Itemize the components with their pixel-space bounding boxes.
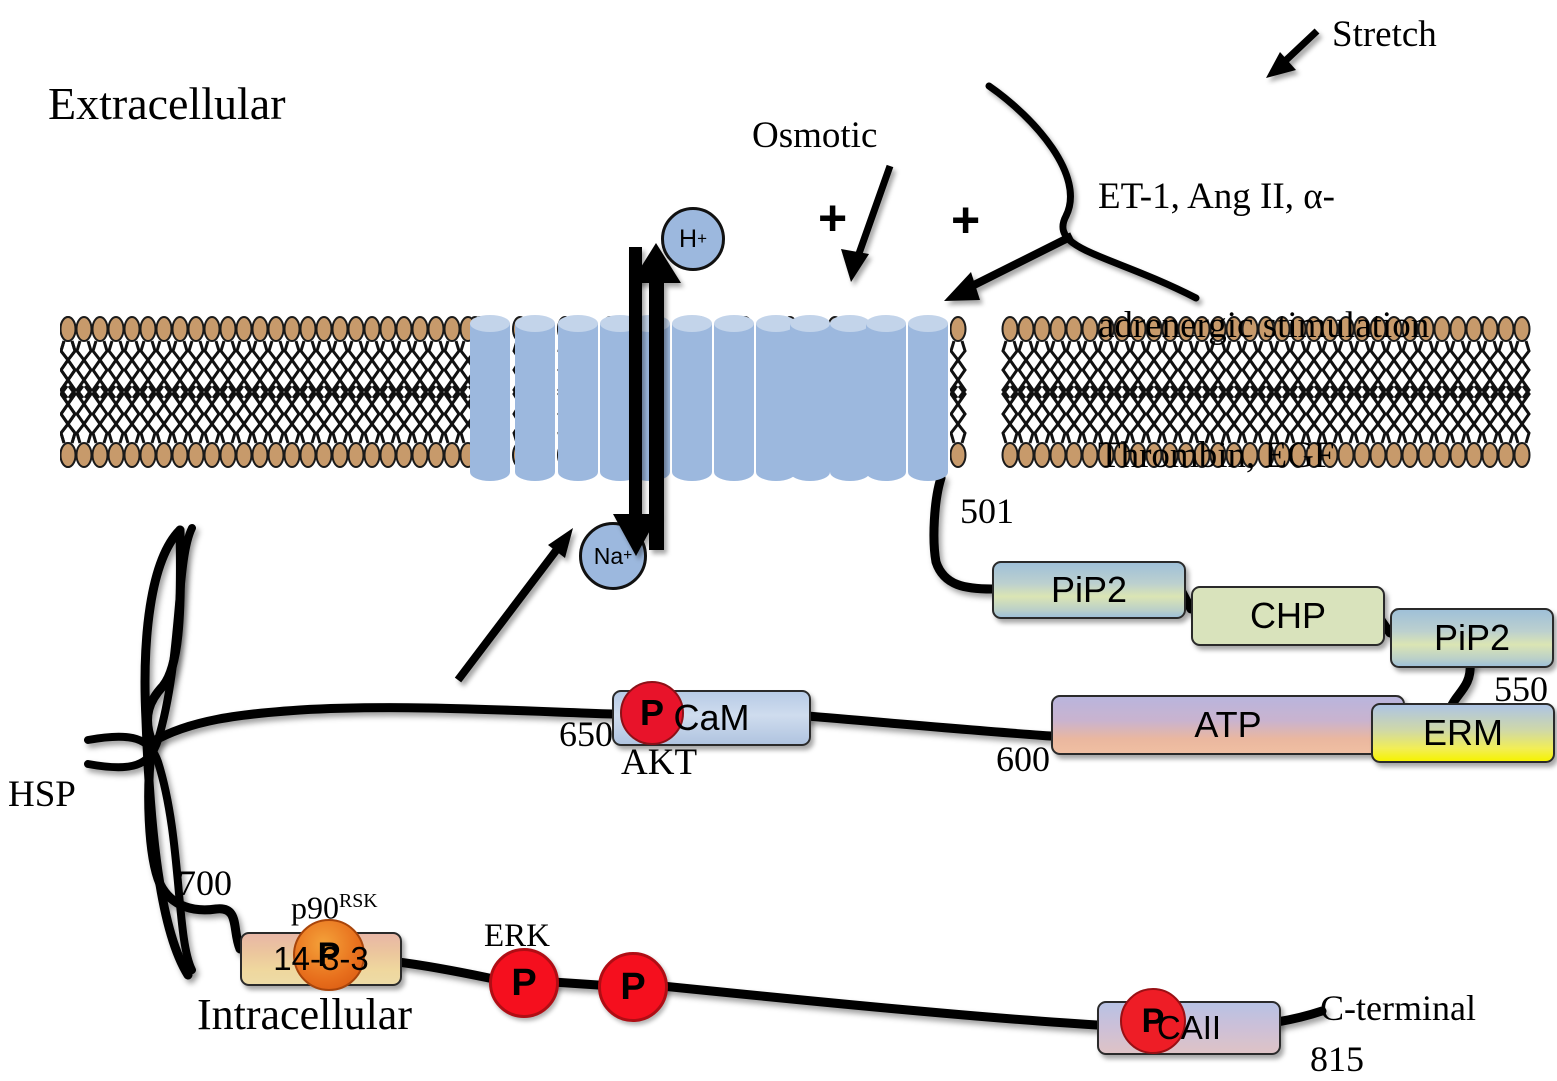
domain-erm-label: ERM [1423,712,1503,754]
domain-14-3-3[interactable]: 14-3-3 [240,932,402,986]
domain-atp[interactable]: ATP [1051,695,1405,755]
activation-arrow [458,528,573,680]
diagram-canvas: H+ Na+ P CaM PiP2 CHP PiP2 ATP ERM P 14-… [0,0,1557,1081]
tm-helix-2 [515,315,555,483]
label-hsp: HSP [8,774,76,815]
p90rsk-superscript: RSK [339,890,378,912]
chain-upper-loop [148,530,181,742]
residue-number-600: 600 [996,738,1050,780]
agonists-line-3: Thrombin, EGF [1098,434,1429,477]
label-erk: ERK [484,918,550,955]
domain-erm[interactable]: ERM [1371,703,1555,763]
bilayer-left [60,316,472,468]
label-plus-agonist: + [951,192,980,248]
label-agonists: ET-1, Ang II, α- adrenergic stimulation … [1098,88,1429,564]
proton-charge: + [697,229,707,249]
chain-outer-tail [145,530,188,975]
label-intracellular: Intracellular [197,990,412,1039]
tm-helix-12 [630,315,670,483]
label-plus-osmotic: + [818,190,847,246]
hsp-brace [88,528,192,970]
domain-caii-label: CAII [1157,1009,1221,1047]
chain-600-to-cam [807,716,1051,736]
chain-650-leftward [152,708,612,742]
tm-helix-3 [558,315,598,483]
residue-number-501: 501 [960,490,1014,532]
tm-helix-8 [790,315,830,483]
label-extracellular: Extracellular [48,78,286,130]
domain-14-3-3-label: 14-3-3 [273,940,368,978]
chain-erk2-to-caii [662,986,1097,1025]
label-stretch: Stretch [1332,14,1437,55]
stretch-arrow [1266,31,1317,78]
osmotic-arrow [841,166,890,282]
residue-number-815: 815 [1310,1038,1364,1080]
domain-atp-label: ATP [1194,704,1261,746]
chain-caii-cterm [1277,1011,1322,1022]
domain-chp-label: CHP [1250,595,1326,637]
chain-1433-to-erk [398,962,489,978]
proton-ion-badge: H+ [661,207,725,271]
domain-chp[interactable]: CHP [1191,586,1385,646]
phosphate-erk-site-2: P [598,952,668,1022]
domain-pip2-first[interactable]: PiP2 [992,561,1186,619]
domain-cam-label: CaM [673,697,749,739]
domain-pip2-second[interactable]: PiP2 [1390,608,1554,668]
residue-number-700: 700 [178,862,232,904]
domain-pip2-first-label: PiP2 [1051,569,1127,611]
label-c-terminal: C-terminal [1320,988,1476,1028]
sodium-ion-badge: Na+ [579,522,647,590]
tm-helix-5 [672,315,712,483]
chain-erk1-erk2 [553,982,598,985]
sodium-charge: + [623,547,632,565]
tm-helix-10 [866,315,906,483]
tm-helix-6 [714,315,754,483]
agonists-line-1: ET-1, Ang II, α- [1098,175,1429,218]
phosphate-erk-site-1: P [489,948,559,1018]
tm-helix-9 [830,315,870,483]
tm-helix-1 [470,315,510,483]
sodium-label: Na [594,543,623,570]
domain-pip2-second-label: PiP2 [1434,617,1510,659]
residue-number-550: 550 [1494,668,1548,710]
tm-helix-11 [908,315,948,483]
proton-label: H [679,225,697,254]
agonists-line-2: adrenergic stimulation [1098,304,1429,347]
chain-lower-loop [149,742,240,949]
residue-number-650: 650 [559,713,613,755]
label-osmotic: Osmotic [752,115,877,156]
label-akt: AKT [621,742,697,783]
